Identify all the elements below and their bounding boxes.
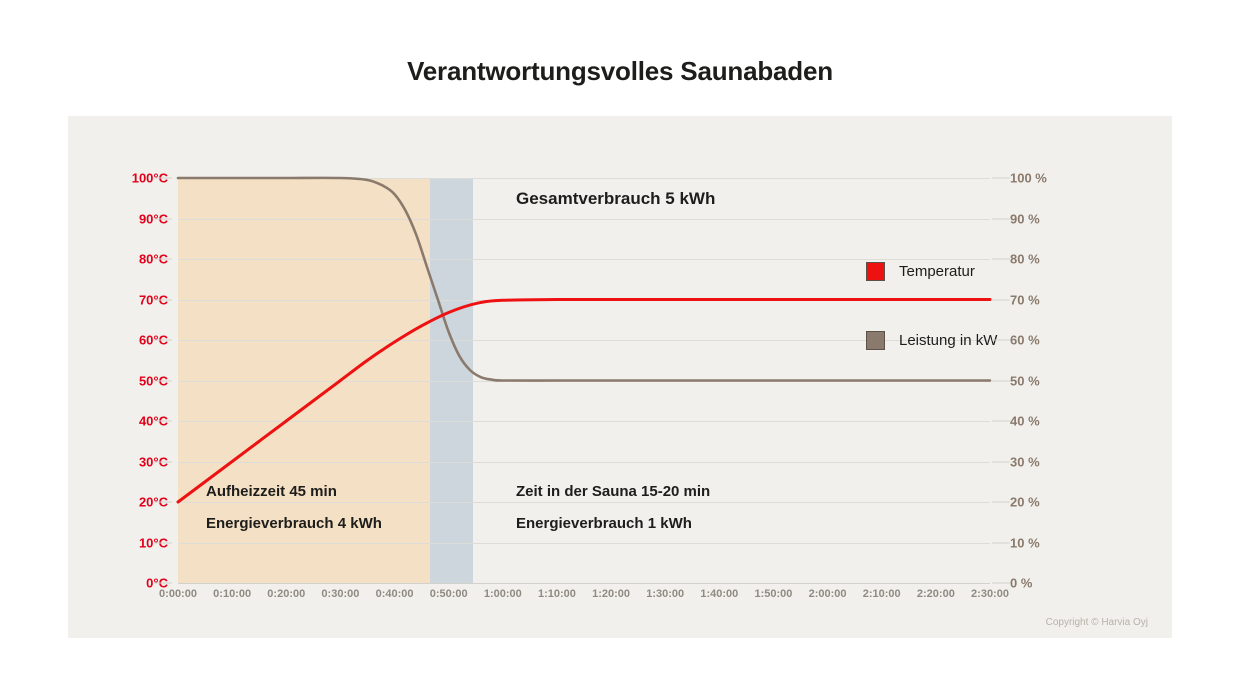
axis-tick-mark <box>154 178 172 179</box>
annotation-total-consumption: Gesamtverbrauch 5 kWh <box>516 189 715 209</box>
axis-tick-mark <box>992 421 1010 422</box>
axis-tick-mark <box>154 218 172 219</box>
axis-tick-mark <box>992 259 1010 260</box>
x-axis-tick-label: 1:50:00 <box>754 588 792 600</box>
axis-tick-mark <box>992 380 1010 381</box>
y-axis-right-tick-label: 20 % <box>1010 496 1040 509</box>
x-axis-tick-label: 1:10:00 <box>538 588 576 600</box>
y-axis-right-tick-label: 40 % <box>1010 415 1040 428</box>
x-axis-tick-label: 2:20:00 <box>917 588 955 600</box>
x-axis-tick-label: 1:40:00 <box>700 588 738 600</box>
axis-tick-mark <box>154 583 172 584</box>
chart-panel: 0°C10°C20°C30°C40°C50°C60°C70°C80°C90°C1… <box>68 116 1172 638</box>
y-axis-right-tick-label: 90 % <box>1010 212 1040 225</box>
x-axis-tick-label: 0:10:00 <box>213 588 251 600</box>
x-axis-tick-label: 0:30:00 <box>321 588 359 600</box>
gridline <box>178 583 990 584</box>
legend-label-power: Leistung in kW <box>899 332 997 349</box>
x-axis-tick-label: 2:10:00 <box>863 588 901 600</box>
axis-tick-mark <box>154 340 172 341</box>
x-axis-time: 0:00:000:10:000:20:000:30:000:40:000:50:… <box>178 588 990 608</box>
axis-tick-mark <box>992 299 1010 300</box>
copyright-text: Copyright © Harvia Oyj <box>1046 617 1148 628</box>
y-axis-right-tick-label: 100 % <box>1010 172 1047 185</box>
legend-item-leistung[interactable]: Leistung in kW <box>866 331 997 350</box>
axis-tick-mark <box>154 380 172 381</box>
x-axis-tick-label: 1:00:00 <box>484 588 522 600</box>
axis-tick-mark <box>154 259 172 260</box>
axis-tick-mark <box>154 502 172 503</box>
axis-tick-mark <box>992 542 1010 543</box>
x-axis-tick-label: 1:30:00 <box>646 588 684 600</box>
y-axis-right-tick-label: 70 % <box>1010 293 1040 306</box>
axis-tick-mark <box>992 340 1010 341</box>
axis-tick-mark <box>992 583 1010 584</box>
x-axis-tick-label: 0:00:00 <box>159 588 197 600</box>
y-axis-right-tick-label: 50 % <box>1010 374 1040 387</box>
axis-tick-mark <box>992 178 1010 179</box>
x-axis-tick-label: 0:50:00 <box>430 588 468 600</box>
y-axis-right-tick-label: 30 % <box>1010 455 1040 468</box>
axis-tick-mark <box>154 421 172 422</box>
x-axis-tick-label: 0:40:00 <box>376 588 414 600</box>
annotation-sauna-time: Zeit in der Sauna 15-20 min <box>516 483 710 500</box>
y-axis-right-power: 0 %10 %20 %30 %40 %50 %60 %70 %80 %90 %1… <box>1010 178 1100 583</box>
series-line-temperature <box>178 299 990 502</box>
annotation-heating-time: Aufheizzeit 45 min <box>206 483 337 500</box>
y-axis-right-tick-label: 10 % <box>1010 536 1040 549</box>
x-axis-tick-label: 2:00:00 <box>809 588 847 600</box>
page-title: Verantwortungsvolles Saunabaden <box>0 56 1240 87</box>
x-axis-tick-label: 2:30:00 <box>971 588 1009 600</box>
annotation-sauna-energy: Energieverbrauch 1 kWh <box>516 515 692 532</box>
axis-tick-mark <box>154 461 172 462</box>
axis-tick-mark <box>992 218 1010 219</box>
legend-label-temperature: Temperatur <box>899 263 975 280</box>
y-axis-right-tick-label: 80 % <box>1010 253 1040 266</box>
y-axis-right-tick-label: 0 % <box>1010 577 1032 590</box>
axis-tick-mark <box>154 299 172 300</box>
x-axis-tick-label: 0:20:00 <box>267 588 305 600</box>
axis-tick-mark <box>992 461 1010 462</box>
y-axis-right-tick-label: 60 % <box>1010 334 1040 347</box>
axis-tick-mark <box>154 542 172 543</box>
legend-swatch-power-icon <box>866 331 885 350</box>
legend-item-temperatur[interactable]: Temperatur <box>866 262 975 281</box>
x-axis-tick-label: 1:20:00 <box>592 588 630 600</box>
annotation-heating-energy: Energieverbrauch 4 kWh <box>206 515 382 532</box>
legend-swatch-temperature-icon <box>866 262 885 281</box>
axis-tick-mark <box>992 502 1010 503</box>
